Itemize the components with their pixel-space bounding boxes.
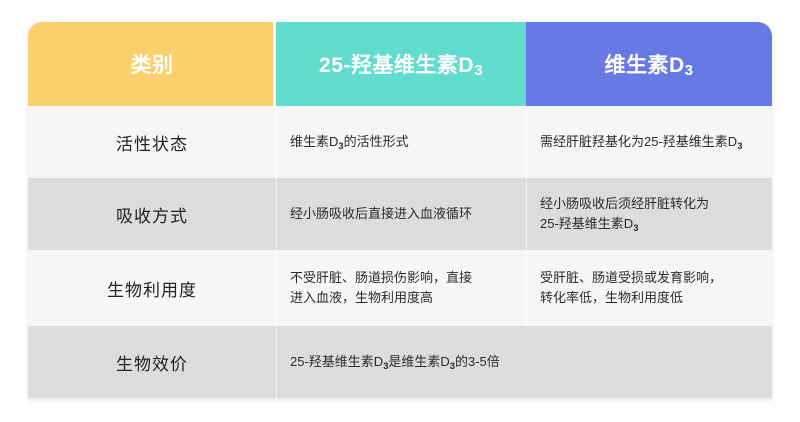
cell-text: 25-羟基维生素D (290, 354, 383, 369)
cell-active-state-d3: 需经肝脏羟基化为25-羟基维生素D3 (526, 106, 772, 178)
cell-line: 转化率低，生物利用度低 (540, 288, 758, 308)
cell-subscript: 3 (338, 141, 343, 151)
header-cell-25-hydroxy-vitamin-d3: 25-羟基维生素D3 (276, 22, 526, 106)
table-body: 活性状态 维生素D3的活性形式 需经肝脏羟基化为25-羟基维生素D3 吸收方式 … (28, 106, 772, 398)
header-cell-vitamin-d3: 维生素D3 (526, 22, 772, 106)
cell-absorption-25oh: 经小肠吸收后直接进入血液循环 (276, 178, 526, 250)
table-row: 生物效价 25-羟基维生素D3是维生素D3的3-5倍 (28, 326, 772, 398)
table-row: 活性状态 维生素D3的活性形式 需经肝脏羟基化为25-羟基维生素D3 (28, 106, 772, 178)
cell-biopotency-merged: 25-羟基维生素D3是维生素D3的3-5倍 (276, 326, 772, 398)
cell-subscript: 3 (383, 361, 388, 371)
cell-text: 进入血液，生物利用度高 (290, 290, 433, 305)
cell-line: 进入血液，生物利用度高 (290, 288, 512, 308)
cell-subscript: 3 (633, 223, 638, 233)
cell-text: 维生素D (290, 134, 338, 149)
cell-absorption-d3: 经小肠吸收后须经肝脏转化为 25-羟基维生素D3 (526, 178, 772, 250)
header-cell-category: 类别 (28, 22, 276, 106)
cell-text: 需经肝脏羟基化为25-羟基维生素D (540, 134, 737, 149)
cell-text-suffix: 是维生素D (388, 354, 449, 369)
cell-line: 不受肝脏、肠道损伤影响，直接 (290, 268, 512, 288)
table-row: 生物利用度 不受肝脏、肠道损伤影响，直接 进入血液，生物利用度高 受肝脏、肠道受… (28, 250, 772, 326)
table-row: 吸收方式 经小肠吸收后直接进入血液循环 经小肠吸收后须经肝脏转化为 25-羟基维… (28, 178, 772, 250)
cell-line: 经小肠吸收后直接进入血液循环 (290, 204, 512, 224)
cell-subscript-2: 3 (450, 361, 455, 371)
row-label-absorption: 吸收方式 (28, 178, 276, 250)
comparison-table: 类别 25-羟基维生素D3 维生素D3 活性状态 维生素D3的活性形式 (28, 22, 772, 398)
table-header: 类别 25-羟基维生素D3 维生素D3 (28, 22, 772, 106)
row-label-biopotency: 生物效价 (28, 326, 276, 398)
header-label-category: 类别 (131, 54, 174, 77)
cell-bioavailability-d3: 受肝脏、肠道受损或发育影响， 转化率低，生物利用度低 (526, 250, 772, 326)
cell-line: 25-羟基维生素D3 (540, 214, 758, 234)
cell-text: 不受肝脏、肠道损伤影响，直接 (290, 270, 472, 285)
header-label-vitamin-d3: 维生素D (604, 54, 684, 77)
cell-bioavailability-25oh: 不受肝脏、肠道损伤影响，直接 进入血液，生物利用度高 (276, 250, 526, 326)
cell-text: 经小肠吸收后须经肝脏转化为 (540, 196, 709, 211)
row-label-bioavailability: 生物利用度 (28, 250, 276, 326)
header-label-25-hydroxy-vitamin-d3: 25-羟基维生素D (319, 54, 474, 77)
page-root: 类别 25-羟基维生素D3 维生素D3 活性状态 维生素D3的活性形式 (0, 0, 800, 422)
cell-text: 转化率低，生物利用度低 (540, 290, 683, 305)
header-subscript-vitamin-d3: 3 (685, 62, 694, 79)
cell-subscript: 3 (737, 141, 742, 151)
cell-text: 受肝脏、肠道受损或发育影响， (540, 270, 722, 285)
header-row: 类别 25-羟基维生素D3 维生素D3 (28, 22, 772, 106)
cell-active-state-25oh: 维生素D3的活性形式 (276, 106, 526, 178)
cell-line: 经小肠吸收后须经肝脏转化为 (540, 194, 758, 214)
cell-line: 维生素D3的活性形式 (290, 132, 512, 152)
header-subscript-25-hydroxy: 3 (474, 62, 483, 79)
row-label-active-state: 活性状态 (28, 106, 276, 178)
cell-text-suffix: 的活性形式 (344, 134, 409, 149)
comparison-table-container: 类别 25-羟基维生素D3 维生素D3 活性状态 维生素D3的活性形式 (28, 22, 772, 398)
cell-text: 经小肠吸收后直接进入血液循环 (290, 206, 472, 221)
cell-text: 25-羟基维生素D (540, 216, 633, 231)
cell-line: 需经肝脏羟基化为25-羟基维生素D3 (540, 132, 758, 152)
cell-text-suffix-2: 的3-5倍 (455, 354, 500, 369)
cell-line: 受肝脏、肠道受损或发育影响， (540, 268, 758, 288)
cell-line: 25-羟基维生素D3是维生素D3的3-5倍 (290, 352, 758, 372)
